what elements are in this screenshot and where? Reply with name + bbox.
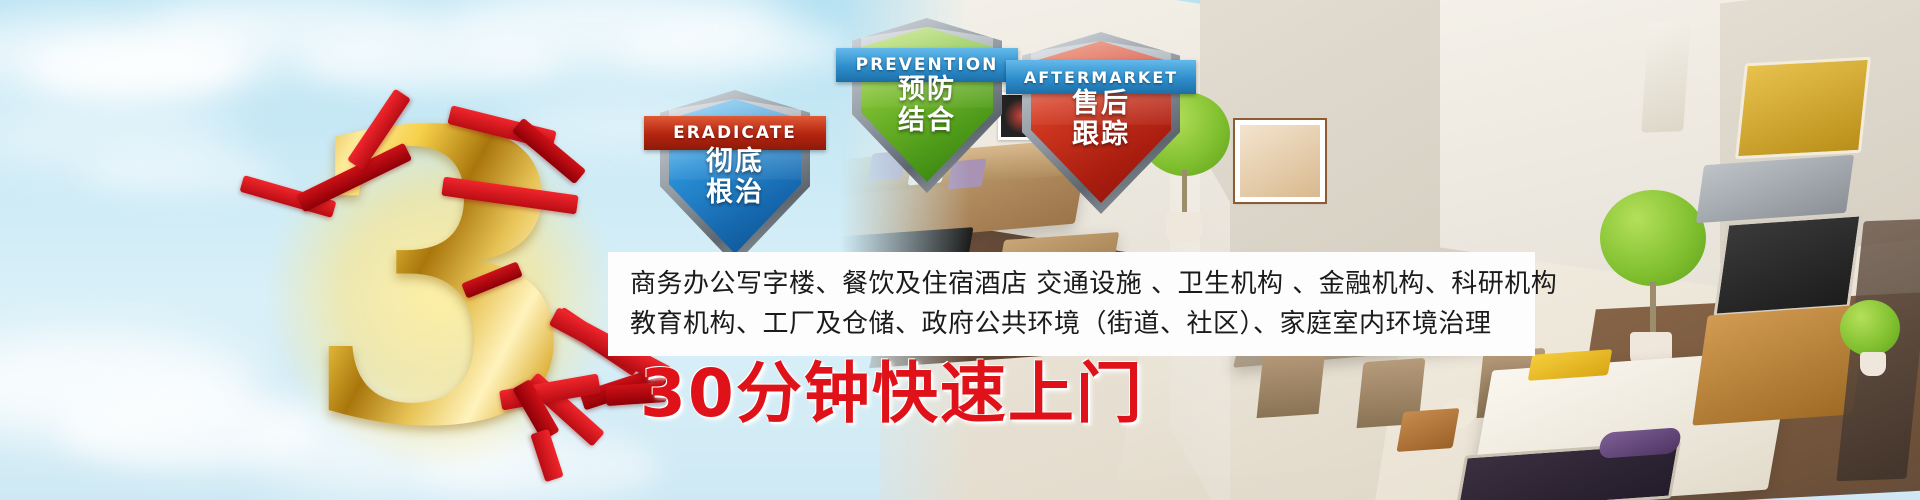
badge-sash-label: AFTERMARKET [1024,68,1178,87]
promo-banner: 3 ERADICATE 彻底 根治 [0,0,1920,500]
badge-cn-line1: 彻底 [660,146,810,177]
badge-cn-line2: 跟踪 [1022,119,1180,150]
kitchen-cabinet [1735,57,1871,160]
service-scope-panel: 商务办公写字楼、餐饮及住宿酒店 交通设施 、卫生机构 、金融机构、科研机构 教育… [608,252,1535,356]
badge-sash-label: ERADICATE [673,123,797,143]
scope-line-2: 教育机构、工厂及仓储、政府公共环境（街道、社区）、家庭室内环境治理 [630,304,1535,344]
badge-chinese-text: 预防 结合 [852,74,1002,136]
gold-digit: 3 [250,80,630,500]
badge-cn-line2: 根治 [660,177,810,208]
badge-sash-label: PREVENTION [856,55,999,75]
badge-cn-line2: 结合 [852,105,1002,136]
hero-number-3: 3 [250,100,630,490]
scope-line-1: 商务办公写字楼、餐饮及住宿酒店 交通设施 、卫生机构 、金融机构、科研机构 [630,264,1535,304]
badge-chinese-text: 售后 跟踪 [1022,88,1180,150]
badge-chinese-text: 彻底 根治 [660,146,810,208]
badge-prevention: PREVENTION 预防 结合 [852,18,1002,193]
wall-art-portrait [1235,120,1325,202]
badge-eradicate: ERADICATE 彻底 根治 [660,90,810,265]
headline-text: 30分钟快速上门 [640,358,1144,430]
badge-sash: ERADICATE [644,116,826,150]
badge-aftermarket: AFTERMARKET 售后 跟踪 [1022,32,1180,214]
badge-cn-line1: 售后 [1022,88,1180,119]
badge-cn-line1: 预防 [852,74,1002,105]
